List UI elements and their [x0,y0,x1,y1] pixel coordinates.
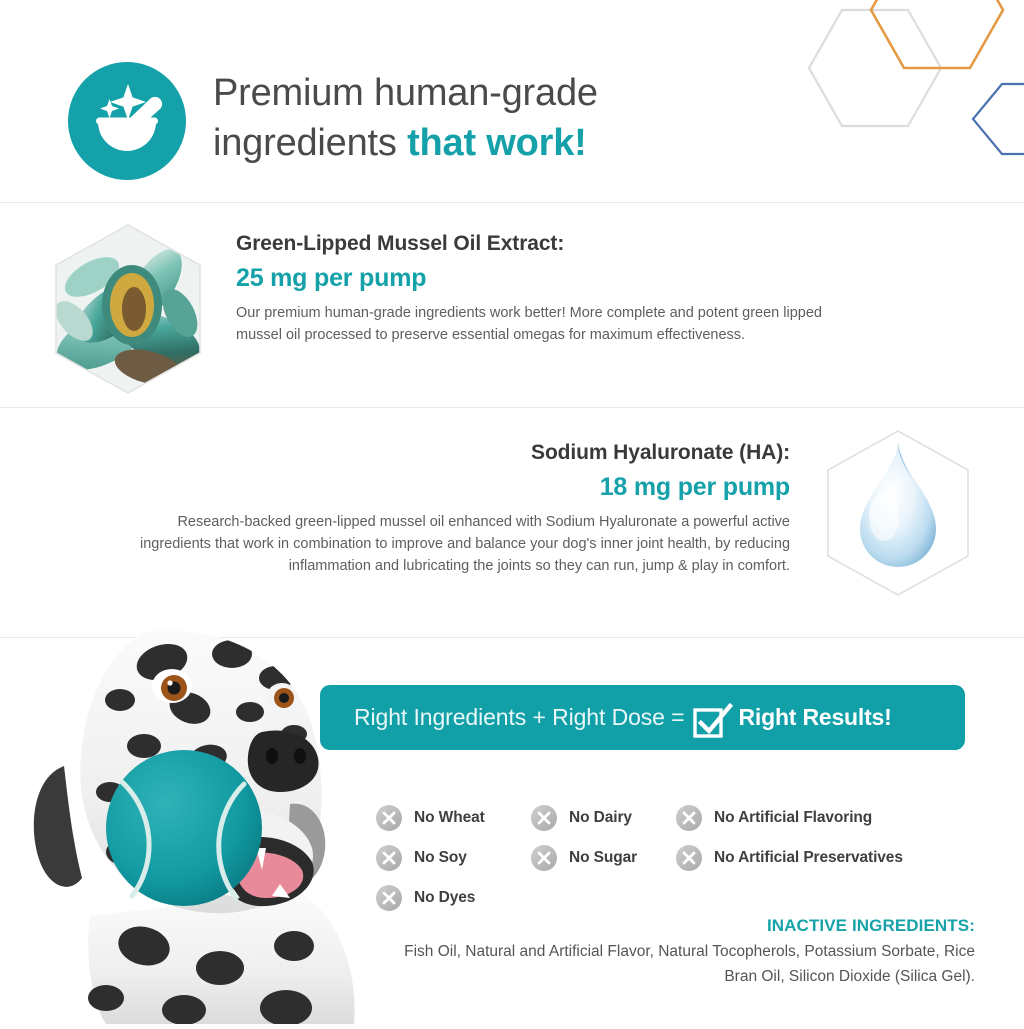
list-item: No Dairy [530,804,675,832]
water-droplet-icon [818,425,978,601]
ingredient-text-ha: Sodium Hyaluronate (HA): 18 mg per pump … [140,438,790,577]
circle-x-icon [530,804,558,832]
ingredient-dose: 18 mg per pump [140,469,790,505]
ingredient-section-mussel: Green-Lipped Mussel Oil Extract: 25 mg p… [0,203,1024,407]
mortar-pestle-sparkle-icon [68,62,186,180]
free-from-label: No Artificial Flavoring [714,809,872,827]
list-item: No Wheat [375,804,530,832]
ingredient-name: Sodium Hyaluronate (HA): [140,438,790,468]
ingredient-description: Our premium human-grade ingredients work… [236,302,826,346]
list-item: No Soy [375,844,530,872]
header: Premium human-grade ingredients that wor… [0,0,1024,202]
ingredient-text-mussel: Green-Lipped Mussel Oil Extract: 25 mg p… [236,229,826,346]
title-line-2-accent: that work! [407,122,587,164]
banner-equation: Right Ingredients + Right Dose = [354,704,685,731]
circle-x-icon [375,804,403,832]
free-from-list: No Wheat No Dairy [375,798,975,918]
list-item: No Artificial Flavoring [675,804,872,832]
free-from-label: No Soy [414,849,467,867]
circle-x-icon [375,884,403,912]
page-title: Premium human-grade ingredients that wor… [213,68,853,168]
circle-x-icon [675,844,703,872]
dalmatian-dog-with-teal-tennis-ball-photo [0,616,392,1024]
banner-result: Right Results! [739,704,892,731]
infographic-page: Premium human-grade ingredients that wor… [0,0,1024,1024]
free-from-label: No Wheat [414,809,485,827]
circle-x-icon [530,844,558,872]
circle-x-icon [375,844,403,872]
title-line-1: Premium human-grade [213,72,598,114]
right-results-banner: Right Ingredients + Right Dose = Right R… [320,685,965,750]
title-line-2-plain: ingredients [213,122,407,164]
list-item: No Dyes [375,884,530,912]
free-from-row: No Wheat No Dairy [375,798,975,838]
free-from-label: No Sugar [569,849,637,867]
ingredient-section-ha: Sodium Hyaluronate (HA): 18 mg per pump … [0,408,1024,637]
ingredient-dose: 25 mg per pump [236,260,826,296]
green-lipped-mussels-photo [48,221,208,397]
inactive-ingredients: INACTIVE INGREDIENTS: Fish Oil, Natural … [400,916,975,989]
ingredient-name: Green-Lipped Mussel Oil Extract: [236,229,826,259]
circle-x-icon [675,804,703,832]
free-from-label: No Artificial Preservatives [714,849,903,867]
list-item: No Sugar [530,844,675,872]
free-from-label: No Dyes [414,889,475,907]
free-from-row: No Soy No Sugar [375,838,975,878]
inactive-ingredients-text: Fish Oil, Natural and Artificial Flavor,… [400,939,975,989]
checkbox-checked-icon [693,703,733,739]
inactive-ingredients-title: INACTIVE INGREDIENTS: [400,916,975,936]
ingredient-description: Research-backed green-lipped mussel oil … [140,511,790,577]
list-item: No Artificial Preservatives [675,844,903,872]
bottom-section: Right Ingredients + Right Dose = Right R… [0,638,1024,1024]
free-from-row: No Dyes [375,878,975,918]
free-from-label: No Dairy [569,809,632,827]
